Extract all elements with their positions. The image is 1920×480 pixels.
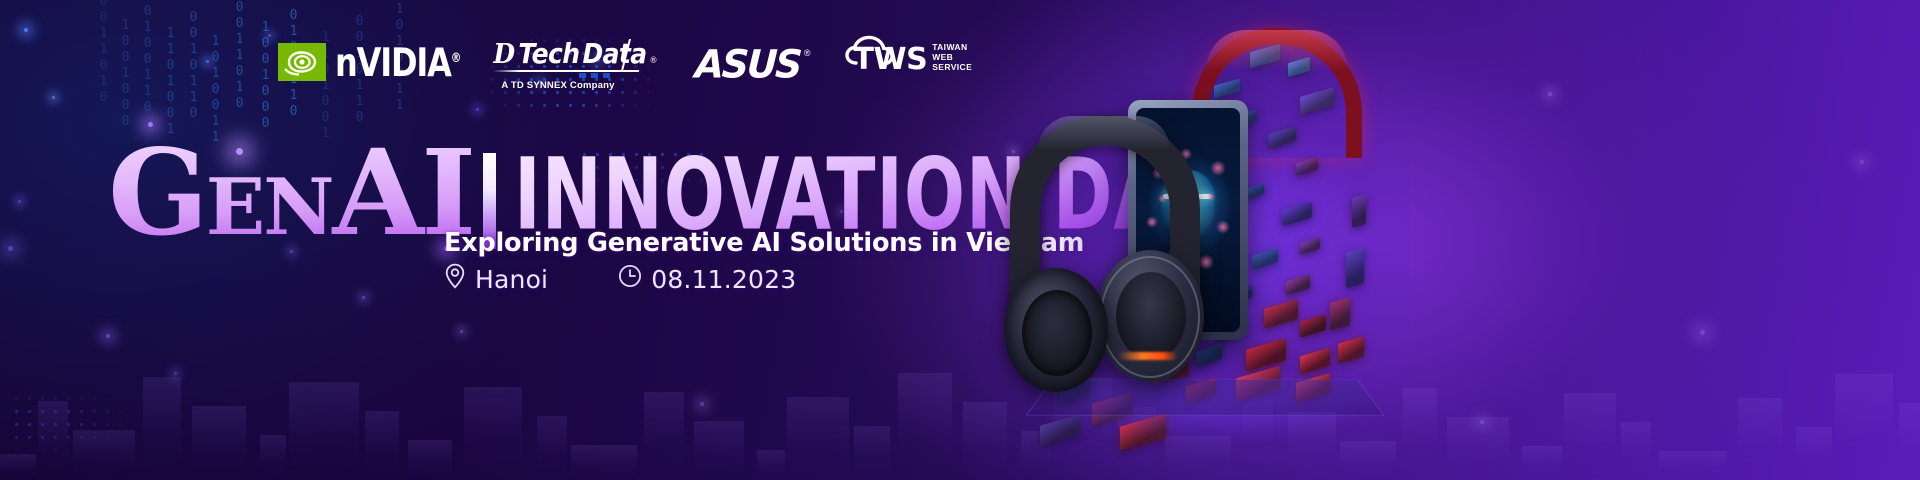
skyline-building — [963, 402, 1007, 480]
glow-spark — [1480, 420, 1484, 424]
skyline-building — [854, 426, 890, 480]
event-banner: 0011010100100001001101101001001011010100… — [0, 0, 1920, 480]
skyline-building — [464, 387, 522, 480]
nvidia-wordmark: nVIDIA® — [335, 43, 461, 82]
sponsor-logo-asus: ASUS ® — [695, 46, 798, 83]
tws-wordmark: TWS — [847, 45, 928, 76]
binary-column: 1010011 — [392, 2, 407, 38]
brand-letter-g: G — [108, 123, 206, 262]
skyline-building — [1564, 393, 1616, 480]
skyline-building — [1243, 383, 1273, 480]
glow-spark — [106, 334, 110, 338]
sponsor-logo-techdata: D Tech Data ® A TD SYNNEX Company — [493, 40, 643, 96]
city-block — [1286, 275, 1310, 296]
city-block — [1236, 366, 1280, 403]
skyline-building — [1403, 388, 1437, 480]
glow-spark — [8, 246, 13, 251]
event-subtitle: Exploring Generative AI Solutions in Vie… — [444, 228, 1084, 258]
city-block — [1300, 348, 1330, 375]
techdata-tagline: A TD SYNNEX Company — [501, 80, 614, 91]
event-date: 08.11.2023 — [618, 264, 796, 295]
skyline-building — [537, 416, 567, 480]
nvidia-eye-icon — [278, 43, 326, 81]
techdata-underline-decor — [493, 70, 640, 72]
skyline-building — [694, 421, 744, 480]
skyline-building — [757, 450, 785, 480]
techdata-word-data: Data — [582, 40, 646, 68]
skyline-building — [898, 373, 952, 480]
binary-column: 1101001 — [163, 26, 178, 110]
skyline-building — [1522, 446, 1562, 480]
glow-spark — [24, 28, 28, 32]
city-block — [1092, 392, 1132, 425]
platform-base — [1026, 379, 1385, 415]
event-meta-row: Hanoi 08.11.2023 — [444, 263, 796, 296]
skyline-building — [1659, 451, 1727, 480]
binary-column: 0011010 — [96, 0, 111, 124]
glow-spark — [1548, 92, 1552, 96]
city-block — [1264, 299, 1298, 329]
city-block — [1060, 378, 1090, 405]
tws-tagline-line1: TAIWAN — [932, 42, 972, 52]
city-block — [1296, 373, 1330, 403]
skyline-building — [1621, 422, 1651, 480]
sponsor-logo-tws: TWS TAIWAN WEB SERVICE — [847, 42, 973, 75]
city-skyline-decor — [0, 330, 1920, 480]
skyline-building — [192, 406, 246, 480]
skyline-building — [1796, 427, 1832, 480]
headphone-cup-left — [1004, 268, 1108, 392]
event-location-label: Hanoi — [475, 265, 548, 295]
skyline-building — [38, 401, 68, 480]
glow-spark — [460, 330, 463, 333]
nvidia-trademark: ® — [451, 50, 462, 65]
glow-spark — [206, 60, 209, 63]
city-block — [1250, 44, 1280, 69]
glow-spark — [700, 402, 704, 406]
binary-column: 1001000 — [258, 20, 273, 110]
skyline-building — [1165, 436, 1231, 480]
skyline-building — [1021, 431, 1051, 480]
skyline-building — [571, 445, 637, 480]
skyline-building — [1340, 441, 1396, 480]
event-date-label: 08.11.2023 — [651, 265, 796, 295]
page-title-brand: GENAI — [108, 141, 473, 260]
clock-icon — [618, 264, 642, 295]
city-block — [1120, 413, 1166, 450]
city-block — [1300, 87, 1334, 115]
red-arc-pipe — [1192, 28, 1362, 158]
glow-spark — [268, 34, 271, 37]
city-block — [1330, 297, 1350, 331]
skyline-building — [1288, 412, 1336, 480]
glow-spark — [1700, 330, 1705, 335]
techdata-squares-decor — [579, 73, 610, 78]
headphone-cup-right — [1096, 250, 1204, 382]
headphone-cup-right-inner — [1116, 272, 1186, 360]
glow-spark — [476, 108, 479, 111]
sponsor-logo-nvidia: nVIDIA® — [278, 41, 465, 83]
skyline-building — [408, 440, 452, 480]
skyline-building — [787, 397, 849, 480]
binary-column: 1010011 — [208, 34, 223, 108]
skyline-building — [1447, 417, 1509, 480]
tws-tagline: TAIWAN WEB SERVICE — [932, 42, 972, 72]
city-block — [1288, 57, 1310, 77]
binary-column: 0011010 — [232, 0, 247, 108]
techdata-registered-mark: ® — [649, 57, 656, 66]
techdata-wordmark: D Tech Data ® — [493, 40, 643, 68]
red-arc-pipe-highlight — [1206, 30, 1348, 70]
skyline-building — [143, 377, 181, 480]
skyline-building — [289, 382, 359, 480]
city-block — [1338, 336, 1364, 363]
city-block — [1040, 414, 1080, 445]
glow-spark — [362, 296, 365, 299]
skyline-building — [1835, 374, 1893, 480]
skyline-building — [1118, 407, 1156, 480]
city-block — [1214, 78, 1240, 98]
glow-spark — [52, 96, 55, 99]
platform-glow — [1030, 370, 1380, 440]
event-location: Hanoi — [444, 263, 548, 296]
binary-column: 1001000 — [118, 18, 133, 114]
tws-mark: TWS — [847, 45, 928, 75]
city-block — [1236, 109, 1256, 127]
nvidia-wordmark-text: nVIDIA — [335, 39, 451, 85]
glow-spark — [174, 372, 177, 375]
headphone-accent-light — [1118, 352, 1178, 360]
skyline-building — [1054, 378, 1112, 480]
tws-tagline-line2: WEB — [932, 52, 972, 62]
glow-spark — [1860, 160, 1864, 164]
city-block — [1216, 318, 1244, 342]
city-block — [1186, 378, 1216, 405]
skyline-building — [260, 435, 286, 480]
techdata-word-tech: Tech — [518, 40, 579, 68]
dot-grid-decor-left — [10, 392, 130, 452]
skyline-building — [0, 454, 36, 480]
headphone-cup-ring — [1100, 256, 1200, 378]
asus-wordmark: ASUS — [694, 45, 801, 84]
skyline-building — [73, 430, 135, 480]
map-pin-icon — [444, 263, 466, 296]
city-block — [1232, 285, 1252, 303]
skyline-building — [1738, 398, 1782, 480]
city-block — [1300, 314, 1326, 337]
sponsor-logo-row: nVIDIA® D Tech Data ® A TD SYNNEX Compan… — [278, 38, 972, 96]
asus-registered-mark: ® — [804, 48, 811, 58]
event-title-wrap: INNOVATION DAY — [514, 147, 1391, 235]
glow-spark — [18, 200, 21, 203]
city-block — [1246, 338, 1286, 371]
city-block — [1196, 344, 1222, 366]
tws-tagline-line3: SERVICE — [932, 62, 972, 72]
headphone-cup-left-inner — [1022, 290, 1092, 376]
skyline-building — [1899, 403, 1920, 480]
techdata-monogram-icon: D — [493, 40, 514, 68]
binary-column: 0010110 — [186, 10, 201, 130]
brand-letters-en: EN — [206, 162, 333, 253]
city-block — [1154, 355, 1188, 385]
skyline-building — [365, 411, 399, 480]
skyline-building — [644, 392, 684, 480]
